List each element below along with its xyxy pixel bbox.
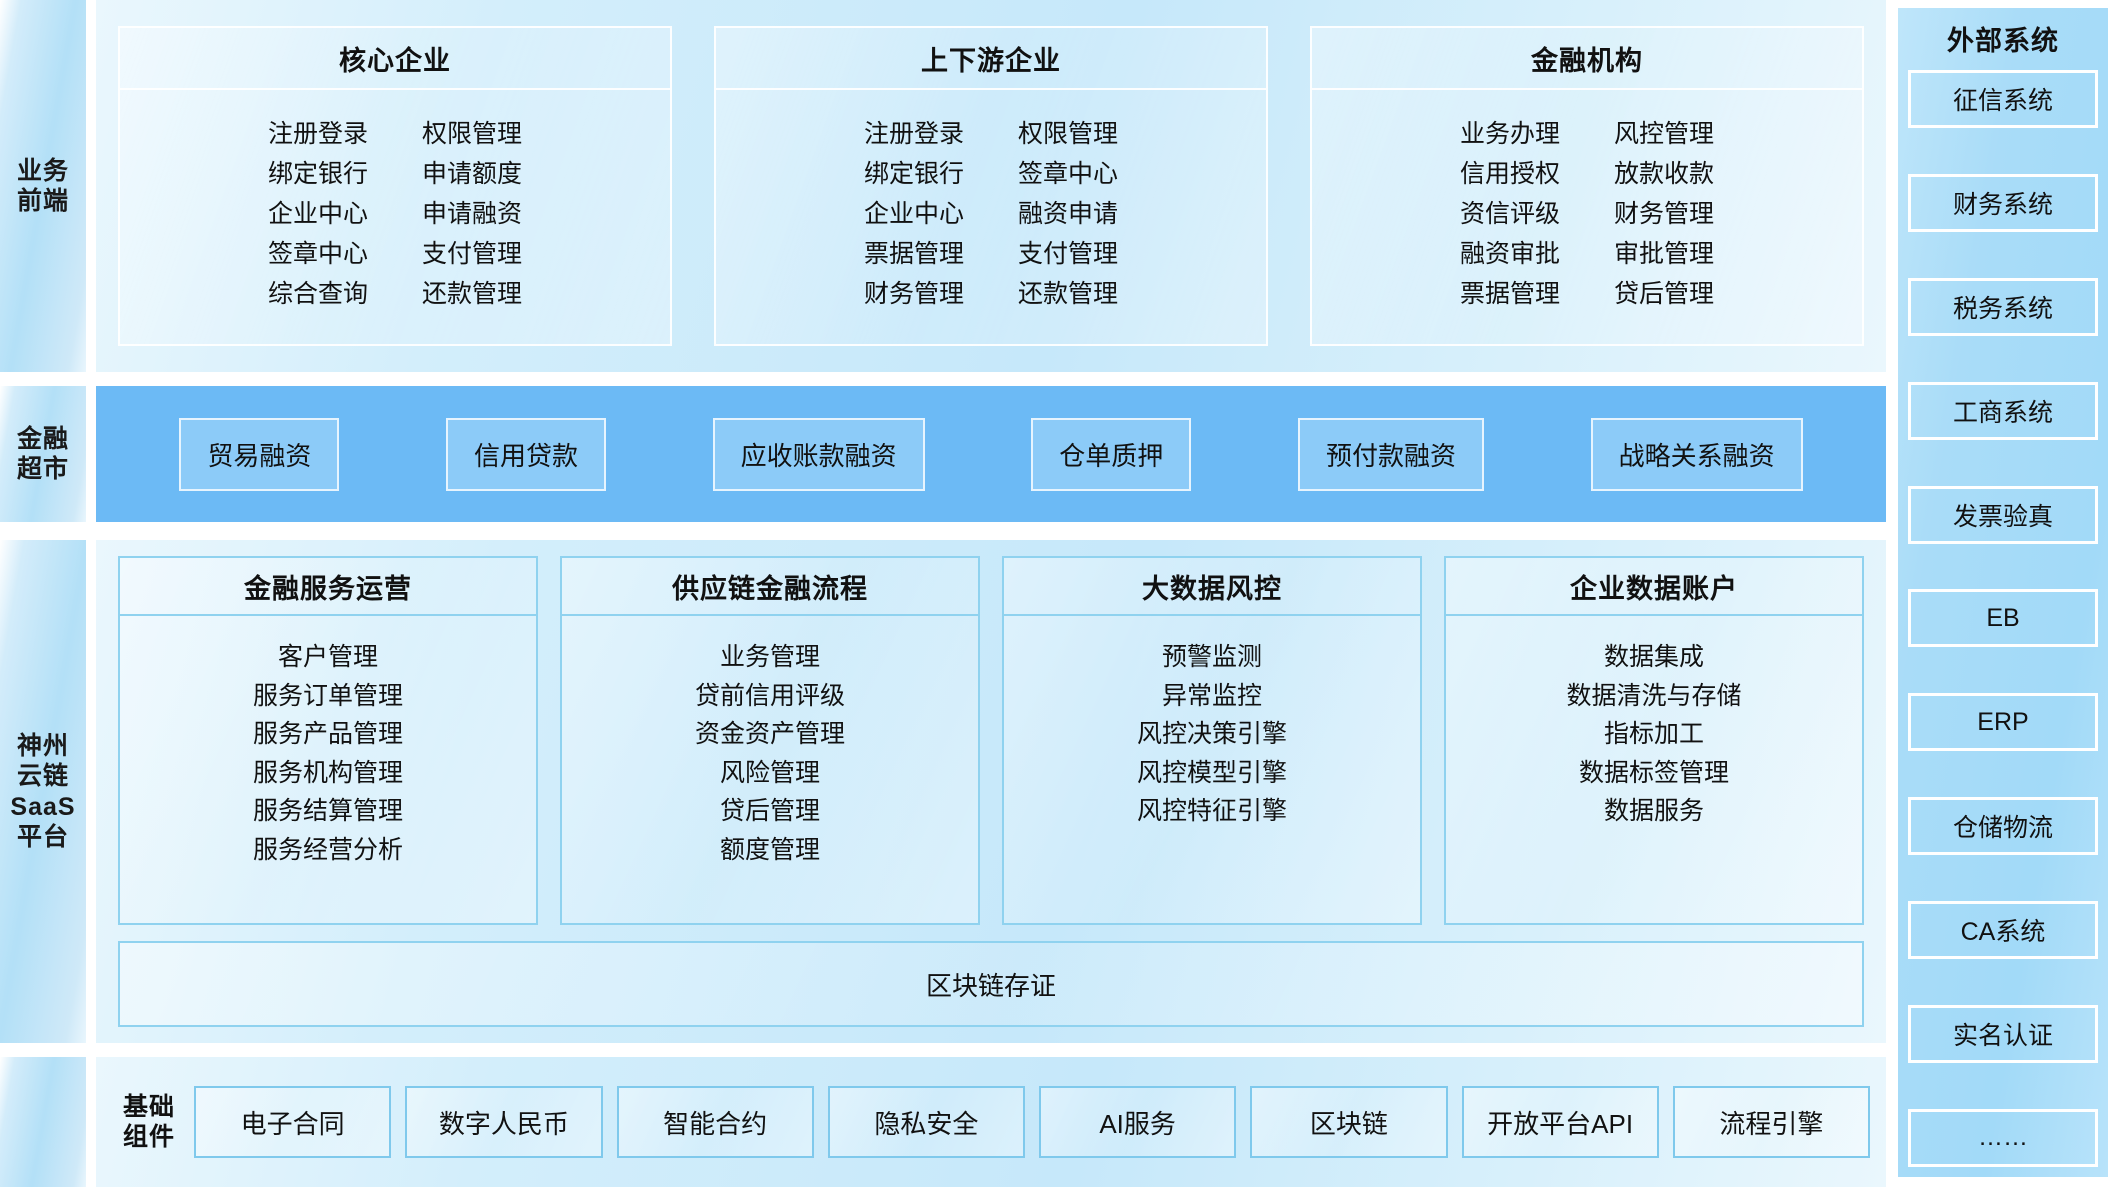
architecture-diagram: 业务 前端 核心企业 注册登录 绑定银行 企业中心 签章中心 [0, 0, 2114, 1187]
base-label-line-1: 基础 [118, 1092, 180, 1123]
module-item[interactable]: 服务产品管理 [253, 717, 403, 753]
layer-label-line-1: 金融 [17, 424, 69, 455]
feature-item[interactable]: 财务管理 [864, 276, 964, 312]
feature-item[interactable]: 注册登录 [864, 116, 964, 152]
external-system-more[interactable]: …… [1908, 1109, 2098, 1167]
card-column-left: 注册登录 绑定银行 企业中心 票据管理 财务管理 [864, 116, 964, 344]
feature-item[interactable]: 业务办理 [1460, 116, 1560, 152]
layer-label-base-spacer [0, 1057, 86, 1187]
layer-row-finance-supermarket: 金融 超市 贸易融资 信用贷款 应收账款融资 仓单质押 预付款融资 战略关系融资 [0, 386, 1886, 522]
feature-item[interactable]: 企业中心 [268, 196, 368, 232]
card-column-left: 注册登录 绑定银行 企业中心 签章中心 综合查询 [268, 116, 368, 344]
finance-product-strip: 贸易融资 信用贷款 应收账款融资 仓单质押 预付款融资 战略关系融资 [96, 386, 1886, 522]
external-system-ca[interactable]: CA系统 [1908, 901, 2098, 959]
finance-product-prepayment[interactable]: 预付款融资 [1298, 418, 1484, 491]
feature-item[interactable]: 财务管理 [1614, 196, 1714, 232]
card-enterprise-data-account[interactable]: 企业数据账户 数据集成 数据清洗与存储 指标加工 数据标签管理 数据服务 [1444, 556, 1864, 925]
module-item[interactable]: 额度管理 [720, 833, 820, 869]
card-column-right: 风控管理 放款收款 财务管理 审批管理 贷后管理 [1614, 116, 1714, 344]
feature-item[interactable]: 权限管理 [1018, 116, 1118, 152]
feature-item[interactable]: 支付管理 [422, 236, 522, 272]
card-core-enterprise[interactable]: 核心企业 注册登录 绑定银行 企业中心 签章中心 综合查询 权限管理 [118, 26, 672, 346]
card-body: 注册登录 绑定银行 企业中心 签章中心 综合查询 权限管理 申请额度 申请融资 … [120, 90, 670, 344]
card-body: 业务管理 贷前信用评级 资金资产管理 风险管理 贷后管理 额度管理 [562, 616, 978, 923]
finance-product-trade[interactable]: 贸易融资 [179, 418, 339, 491]
feature-item[interactable]: 票据管理 [864, 236, 964, 272]
feature-item[interactable]: 还款管理 [1018, 276, 1118, 312]
base-component-blockchain[interactable]: 区块链 [1250, 1086, 1447, 1158]
saas-card-grid: 金融服务运营 客户管理 服务订单管理 服务产品管理 服务机构管理 服务结算管理 … [118, 556, 1864, 925]
external-system-credit-reference[interactable]: 征信系统 [1908, 70, 2098, 128]
module-item[interactable]: 风控模型引擎 [1137, 756, 1287, 792]
layer-label-line-4: 平台 [10, 822, 75, 853]
external-system-erp[interactable]: ERP [1908, 693, 2098, 751]
card-title: 大数据风控 [1004, 558, 1420, 616]
module-item[interactable]: 数据集成 [1604, 640, 1704, 676]
feature-item[interactable]: 签章中心 [1018, 156, 1118, 192]
module-item[interactable]: 异常监控 [1162, 679, 1262, 715]
feature-item[interactable]: 融资申请 [1018, 196, 1118, 232]
feature-item[interactable]: 信用授权 [1460, 156, 1560, 192]
finance-product-receivables[interactable]: 应收账款融资 [713, 418, 925, 491]
row-gap [86, 386, 96, 522]
feature-item[interactable]: 绑定银行 [268, 156, 368, 192]
card-column-right: 权限管理 申请额度 申请融资 支付管理 还款管理 [422, 116, 522, 344]
blockchain-evidence-bar[interactable]: 区块链存证 [118, 941, 1864, 1027]
business-frontend-card-grid: 核心企业 注册登录 绑定银行 企业中心 签章中心 综合查询 权限管理 [118, 26, 1864, 346]
feature-item[interactable]: 申请额度 [422, 156, 522, 192]
feature-item[interactable]: 融资审批 [1460, 236, 1560, 272]
external-system-business-registration[interactable]: 工商系统 [1908, 382, 2098, 440]
base-component-e-contract[interactable]: 电子合同 [194, 1086, 391, 1158]
card-title: 供应链金融流程 [562, 558, 978, 616]
feature-item[interactable]: 注册登录 [268, 116, 368, 152]
layer-label-business-frontend: 业务 前端 [0, 0, 86, 372]
module-item[interactable]: 服务机构管理 [253, 756, 403, 792]
row-gap [86, 0, 96, 372]
card-body: 预警监测 异常监控 风控决策引擎 风控模型引擎 风控特征引擎 [1004, 616, 1420, 923]
card-big-data-risk-control[interactable]: 大数据风控 预警监测 异常监控 风控决策引擎 风控模型引擎 风控特征引擎 [1002, 556, 1422, 925]
base-component-smart-contract[interactable]: 智能合约 [617, 1086, 814, 1158]
module-item[interactable]: 风控特征引擎 [1137, 794, 1287, 830]
module-item[interactable]: 服务订单管理 [253, 679, 403, 715]
module-item[interactable]: 服务结算管理 [253, 794, 403, 830]
external-system-invoice-verification[interactable]: 发票验真 [1908, 486, 2098, 544]
card-title: 金融机构 [1312, 28, 1862, 90]
row-gap [86, 540, 96, 1043]
feature-item[interactable]: 放款收款 [1614, 156, 1714, 192]
finance-product-credit-loan[interactable]: 信用贷款 [446, 418, 606, 491]
base-components-label: 基础 组件 [118, 1092, 180, 1153]
base-component-open-platform-api[interactable]: 开放平台API [1462, 1086, 1659, 1158]
layer-row-base-components: 基础 组件 电子合同 数字人民币 智能合约 隐私安全 AI服务 区块链 开放平台… [0, 1057, 1886, 1187]
external-systems-list: 征信系统 财务系统 税务系统 工商系统 发票验真 EB ERP 仓储物流 CA系… [1908, 70, 2098, 1167]
finance-supermarket-panel: 贸易融资 信用贷款 应收账款融资 仓单质押 预付款融资 战略关系融资 [96, 386, 1886, 522]
finance-product-warehouse-pledge[interactable]: 仓单质押 [1031, 418, 1191, 491]
external-system-tax[interactable]: 税务系统 [1908, 278, 2098, 336]
module-item[interactable]: 指标加工 [1604, 717, 1704, 753]
feature-item[interactable]: 权限管理 [422, 116, 522, 152]
card-body: 业务办理 信用授权 资信评级 融资审批 票据管理 风控管理 放款收款 财务管理 … [1312, 90, 1862, 344]
feature-item[interactable]: 贷后管理 [1614, 276, 1714, 312]
layer-row-saas-platform: 神州 云链 SaaS 平台 金融服务运营 客户管理 服务订单管理 服务产品管理 [0, 540, 1886, 1043]
feature-item[interactable]: 票据管理 [1460, 276, 1560, 312]
card-upstream-downstream-enterprise[interactable]: 上下游企业 注册登录 绑定银行 企业中心 票据管理 财务管理 权限管理 [714, 26, 1268, 346]
external-system-finance[interactable]: 财务系统 [1908, 174, 2098, 232]
external-system-eb[interactable]: EB [1908, 589, 2098, 647]
layer-label-line-2: 云链 [10, 761, 75, 792]
feature-item[interactable]: 企业中心 [864, 196, 964, 232]
card-title: 企业数据账户 [1446, 558, 1862, 616]
base-component-digital-rmb[interactable]: 数字人民币 [405, 1086, 602, 1158]
row-gap [86, 1057, 96, 1187]
module-item[interactable]: 贷后管理 [720, 794, 820, 830]
card-column-right: 权限管理 签章中心 融资申请 支付管理 还款管理 [1018, 116, 1118, 344]
saas-platform-panel: 金融服务运营 客户管理 服务订单管理 服务产品管理 服务机构管理 服务结算管理 … [96, 540, 1886, 1043]
module-item[interactable]: 预警监测 [1162, 640, 1262, 676]
card-title: 上下游企业 [716, 28, 1266, 90]
module-item[interactable]: 服务经营分析 [253, 833, 403, 869]
feature-item[interactable]: 签章中心 [268, 236, 368, 272]
module-item[interactable]: 数据服务 [1604, 794, 1704, 830]
card-title: 金融服务运营 [120, 558, 536, 616]
module-item[interactable]: 风险管理 [720, 756, 820, 792]
feature-item[interactable]: 绑定银行 [864, 156, 964, 192]
layer-label-line-2: 超市 [17, 454, 69, 485]
finance-product-strategic[interactable]: 战略关系融资 [1591, 418, 1803, 491]
card-financial-institution[interactable]: 金融机构 业务办理 信用授权 资信评级 融资审批 票据管理 风控管理 [1310, 26, 1864, 346]
base-component-ai-service[interactable]: AI服务 [1039, 1086, 1236, 1158]
module-item[interactable]: 数据标签管理 [1579, 756, 1729, 792]
base-components-strip: 基础 组件 电子合同 数字人民币 智能合约 隐私安全 AI服务 区块链 开放平台… [96, 1057, 1886, 1187]
module-item[interactable]: 客户管理 [278, 640, 378, 676]
card-supply-chain-finance-process[interactable]: 供应链金融流程 业务管理 贷前信用评级 资金资产管理 风险管理 贷后管理 额度管… [560, 556, 980, 925]
layer-row-business-frontend: 业务 前端 核心企业 注册登录 绑定银行 企业中心 签章中心 [0, 0, 1886, 372]
card-body: 注册登录 绑定银行 企业中心 票据管理 财务管理 权限管理 签章中心 融资申请 … [716, 90, 1266, 344]
module-item[interactable]: 资金资产管理 [695, 717, 845, 753]
layer-label-finance-supermarket: 金融 超市 [0, 386, 86, 522]
base-component-privacy-security[interactable]: 隐私安全 [828, 1086, 1025, 1158]
module-item[interactable]: 风控决策引擎 [1137, 717, 1287, 753]
feature-item[interactable]: 支付管理 [1018, 236, 1118, 272]
module-item[interactable]: 业务管理 [720, 640, 820, 676]
feature-item[interactable]: 综合查询 [268, 276, 368, 312]
module-item[interactable]: 贷前信用评级 [695, 679, 845, 715]
external-systems-title: 外部系统 [1947, 16, 2059, 60]
layer-label-line-1: 神州 [10, 731, 75, 762]
feature-item[interactable]: 资信评级 [1460, 196, 1560, 232]
card-body: 客户管理 服务订单管理 服务产品管理 服务机构管理 服务结算管理 服务经营分析 [120, 616, 536, 923]
layer-label-line-3: SaaS [10, 792, 75, 823]
card-financial-service-operation[interactable]: 金融服务运营 客户管理 服务订单管理 服务产品管理 服务机构管理 服务结算管理 … [118, 556, 538, 925]
feature-item[interactable]: 风控管理 [1614, 116, 1714, 152]
main-layer-stack: 业务 前端 核心企业 注册登录 绑定银行 企业中心 签章中心 [0, 0, 1886, 1187]
card-title: 核心企业 [120, 28, 670, 90]
external-system-warehouse-logistics[interactable]: 仓储物流 [1908, 797, 2098, 855]
business-frontend-panel: 核心企业 注册登录 绑定银行 企业中心 签章中心 综合查询 权限管理 [96, 0, 1886, 372]
card-column-left: 业务办理 信用授权 资信评级 融资审批 票据管理 [1460, 116, 1560, 344]
external-system-real-name-auth[interactable]: 实名认证 [1908, 1005, 2098, 1063]
external-systems-panel: 外部系统 征信系统 财务系统 税务系统 工商系统 发票验真 EB ERP 仓储物… [1898, 8, 2108, 1177]
layer-label-line-1: 业务 [17, 156, 69, 187]
feature-item[interactable]: 审批管理 [1614, 236, 1714, 272]
base-component-process-engine[interactable]: 流程引擎 [1673, 1086, 1870, 1158]
external-systems-column: 外部系统 征信系统 财务系统 税务系统 工商系统 发票验真 EB ERP 仓储物… [1886, 0, 2114, 1187]
layer-label-saas-platform: 神州 云链 SaaS 平台 [0, 540, 86, 1043]
feature-item[interactable]: 还款管理 [422, 276, 522, 312]
module-item[interactable]: 数据清洗与存储 [1566, 679, 1741, 715]
base-label-line-2: 组件 [118, 1122, 180, 1153]
layer-label-line-2: 前端 [17, 186, 69, 217]
card-body: 数据集成 数据清洗与存储 指标加工 数据标签管理 数据服务 [1446, 616, 1862, 923]
feature-item[interactable]: 申请融资 [422, 196, 522, 232]
base-components-panel: 基础 组件 电子合同 数字人民币 智能合约 隐私安全 AI服务 区块链 开放平台… [96, 1057, 1886, 1187]
